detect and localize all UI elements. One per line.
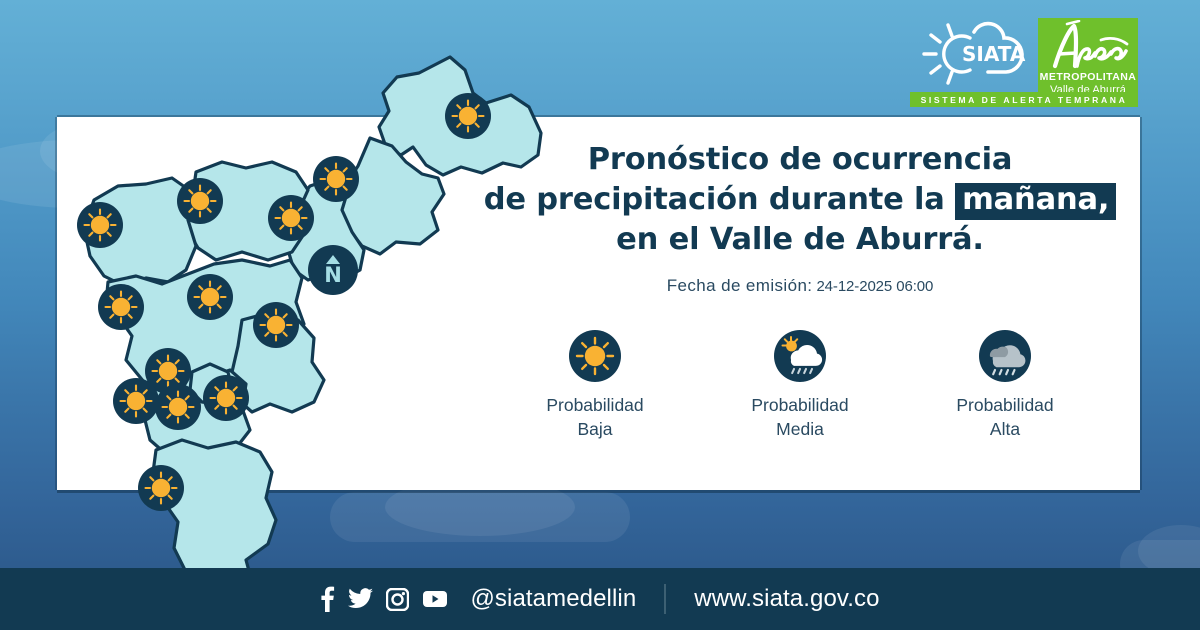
valle-de-aburra-map: N (46, 20, 466, 600)
siata-tagline-bar: SISTEMA DE ALERTA TEMPRANA (910, 92, 1138, 107)
map-marker-sun[interactable] (98, 284, 144, 330)
emission-value: 24-12-2025 06:00 (816, 278, 933, 295)
legend-alta-line2: Alta (990, 419, 1020, 439)
map-marker-sun[interactable] (445, 93, 491, 139)
map-marker-sun[interactable] (155, 384, 201, 430)
area-metropolitana-logo: METROPOLITANA Valle de Aburrá (1038, 18, 1138, 102)
area-logo-line1: METROPOLITANA (1040, 72, 1137, 84)
map-marker-sun[interactable] (268, 195, 314, 241)
map-marker-sun[interactable] (177, 178, 223, 224)
emission-label: Fecha de emisión: (667, 276, 813, 295)
instagram-icon[interactable] (386, 588, 409, 611)
headline-line-2-text: de precipitación durante la (484, 182, 955, 217)
siata-tagline-text: SISTEMA DE ALERTA TEMPRANA (921, 95, 1128, 105)
infographic-canvas: N Pronóstico de ocurrencia de precipitac… (0, 0, 1200, 630)
legend-item-alta: Probabilidad Alta (910, 330, 1100, 441)
brand-logos: SIATA METROPOLITANA Valle (912, 18, 1138, 102)
headline-line-1: Pronóstico de ocurrencia (470, 140, 1130, 180)
footer-divider (664, 584, 666, 614)
legend-media-line2: Media (776, 419, 824, 439)
footer-bar: @siatamedellin www.siata.gov.co (0, 568, 1200, 630)
map-marker-sun[interactable] (203, 375, 249, 421)
facebook-icon[interactable] (320, 586, 335, 612)
twitter-icon[interactable] (348, 588, 373, 610)
legend-media-line1: Probabilidad (751, 395, 848, 415)
emission-date: Fecha de emisión:24-12-2025 06:00 (470, 276, 1130, 296)
sun-icon (569, 330, 621, 382)
headline-line-2: de precipitación durante la mañana, (470, 180, 1130, 220)
legend-label-baja: Probabilidad Baja (546, 394, 643, 441)
legend-label-media: Probabilidad Media (751, 394, 848, 441)
svg-text:SIATA: SIATA (962, 42, 1026, 66)
headline-line-3: en el Valle de Aburrá. (470, 220, 1130, 260)
probability-legend: Probabilidad Baja (470, 330, 1130, 441)
compass-north-indicator: N (308, 245, 358, 295)
page-title: Pronóstico de ocurrencia de precipitació… (470, 140, 1130, 259)
website-url[interactable]: www.siata.gov.co (694, 585, 879, 613)
map-marker-sun[interactable] (187, 274, 233, 320)
cloud-rain-icon (979, 330, 1031, 382)
legend-label-alta: Probabilidad Alta (956, 394, 1053, 441)
area-script-wordmark (1045, 20, 1131, 72)
forecast-text-block: Pronóstico de ocurrencia de precipitació… (470, 140, 1130, 296)
compass-label: N (324, 265, 342, 286)
legend-baja-line1: Probabilidad (546, 395, 643, 415)
map-marker-sun[interactable] (313, 156, 359, 202)
legend-alta-line1: Probabilidad (956, 395, 1053, 415)
social-handle[interactable]: @siatamedellin (470, 585, 636, 613)
youtube-icon[interactable] (422, 589, 448, 609)
legend-baja-line2: Baja (577, 419, 612, 439)
map-marker-sun[interactable] (253, 302, 299, 348)
headline-highlight: mañana, (955, 183, 1116, 220)
sun-cloud-rain-icon (774, 330, 826, 382)
legend-item-media: Probabilidad Media (705, 330, 895, 441)
map-marker-sun[interactable] (138, 465, 184, 511)
map-marker-sun[interactable] (113, 378, 159, 424)
siata-logo: SIATA (912, 18, 1034, 90)
legend-item-baja: Probabilidad Baja (500, 330, 690, 441)
map-marker-sun[interactable] (77, 202, 123, 248)
social-icons (320, 586, 448, 612)
